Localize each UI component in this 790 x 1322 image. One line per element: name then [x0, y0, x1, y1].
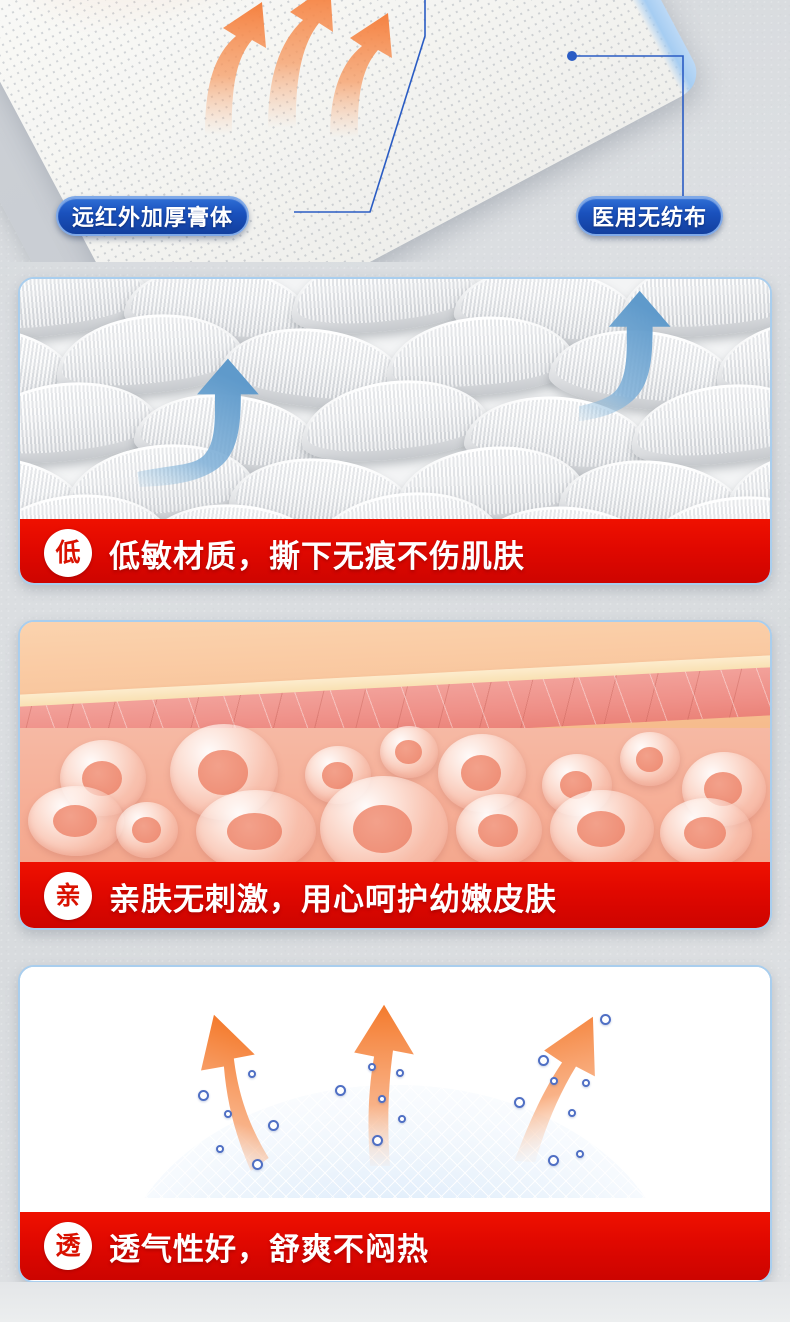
feature-card-low-sensitivity[interactable]: 低 低敏材质，撕下无痕不伤肌肤 — [18, 277, 772, 585]
callout-label-text: 远红外加厚膏体 — [72, 200, 233, 232]
feature-badge-icon: 透 — [44, 1222, 92, 1270]
vapor-particle-icon — [600, 1014, 611, 1025]
feature-caption-bar: 亲 亲肤无刺激，用心呵护幼嫩皮肤 — [20, 862, 770, 930]
skin-cell-icon — [620, 732, 680, 786]
feature-card-skin-friendly[interactable]: 亲 亲肤无刺激，用心呵护幼嫩皮肤 — [18, 620, 772, 930]
vapor-particle-icon — [576, 1150, 584, 1158]
feature-caption-text: 透气性好，舒爽不闷热 — [109, 1224, 429, 1269]
vapor-particle-icon — [550, 1077, 558, 1085]
feature-caption-bar: 低 低敏材质，撕下无痕不伤肌肤 — [20, 519, 770, 585]
skin-cell-icon — [380, 726, 438, 778]
feature-caption-text: 亲肤无刺激，用心呵护幼嫩皮肤 — [109, 874, 557, 919]
woven-fiber-texture — [20, 279, 770, 519]
callout-label-thick-paste[interactable]: 远红外加厚膏体 — [56, 196, 249, 236]
skin-cell-icon — [456, 794, 542, 862]
skin-cell-icon — [116, 802, 178, 858]
vapor-particle-icon — [248, 1070, 256, 1078]
vapor-particle-icon — [568, 1109, 576, 1117]
vapor-particle-icon — [582, 1079, 590, 1087]
feature-card-breathable[interactable]: 透 透气性好，舒爽不闷热 — [18, 965, 772, 1283]
skin-cell-icon — [28, 786, 124, 856]
callout-label-medical-nonwoven[interactable]: 医用无纺布 — [576, 196, 723, 236]
vapor-arrow-icon — [20, 967, 770, 1211]
vapor-particle-icon — [378, 1095, 386, 1103]
page-bottom-strip — [0, 1282, 790, 1322]
skin-cell-icon — [550, 790, 654, 862]
skin-cross-section — [20, 622, 770, 862]
breathable-mesh-dome — [20, 967, 770, 1212]
callout-label-text: 医用无纺布 — [592, 200, 707, 232]
vapor-particle-icon — [548, 1155, 559, 1166]
skin-cell-icon — [196, 790, 316, 862]
dermis-layer — [20, 728, 770, 862]
vapor-particle-icon — [396, 1069, 404, 1077]
vapor-particle-icon — [252, 1159, 263, 1170]
feature-caption-text: 低敏材质，撕下无痕不伤肌肤 — [109, 531, 525, 576]
vapor-particle-icon — [398, 1115, 406, 1123]
vapor-particle-icon — [268, 1120, 279, 1131]
feature-badge-icon: 低 — [44, 529, 92, 577]
vapor-particle-icon — [372, 1135, 383, 1146]
hero-product-image: 远红外加厚膏体 医用无纺布 — [0, 0, 790, 262]
airflow-arrow-icon — [20, 279, 770, 518]
feature-caption-bar: 透 透气性好，舒爽不闷热 — [20, 1212, 770, 1280]
skin-cell-icon — [660, 798, 752, 862]
vapor-particle-icon — [538, 1055, 549, 1066]
vapor-particle-icon — [198, 1090, 209, 1101]
vapor-particle-icon — [216, 1145, 224, 1153]
vapor-particle-icon — [514, 1097, 525, 1108]
feature-badge-icon: 亲 — [44, 872, 92, 920]
vapor-particle-icon — [335, 1085, 346, 1096]
vapor-particle-icon — [368, 1063, 376, 1071]
vapor-particle-icon — [224, 1110, 232, 1118]
skin-layers — [20, 622, 770, 862]
